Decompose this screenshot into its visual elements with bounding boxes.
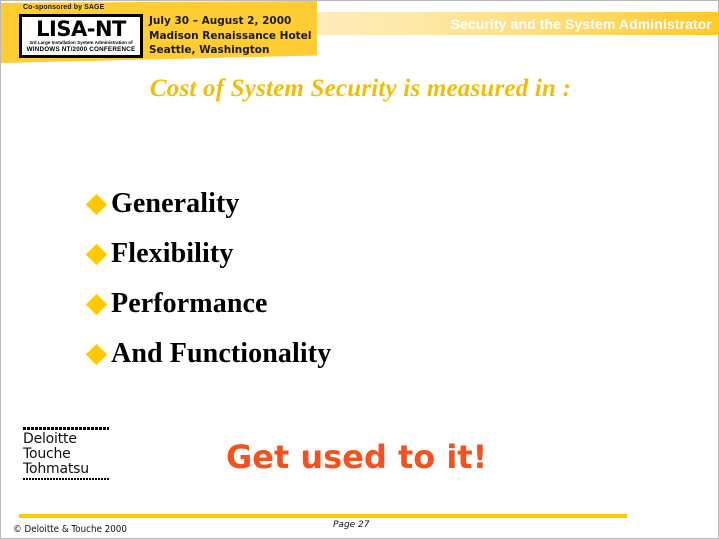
deloitte-logo: Deloitte Touche Tohmatsu xyxy=(23,427,109,480)
logo-rule-bottom-icon xyxy=(23,478,109,480)
diamond-bullet-icon xyxy=(86,193,107,214)
cosponsor-label: Co-sponsored by SAGE xyxy=(23,4,104,11)
deloitte-logo-line3: Tohmatsu xyxy=(23,462,109,477)
list-item: Flexibility xyxy=(89,229,649,279)
bullet-list: Generality Flexibility Performance And F… xyxy=(89,179,649,379)
list-item: Performance xyxy=(89,279,649,329)
footer-page-number: Page 27 xyxy=(333,520,370,530)
diamond-bullet-icon xyxy=(86,293,107,314)
list-item: And Functionality xyxy=(89,329,649,379)
list-item-label: And Functionality xyxy=(111,338,331,370)
page-title: Cost of System Security is measured in : xyxy=(1,75,719,103)
conference-details: July 30 – August 2, 2000 Madison Renaiss… xyxy=(149,14,311,58)
lisa-nt-subtitle-line2: WINDOWS NT/2000 CONFERENCE xyxy=(27,46,136,54)
lisa-nt-wordmark: LISA-NT xyxy=(36,18,126,40)
list-item-label: Generality xyxy=(111,188,240,220)
diamond-bullet-icon xyxy=(86,243,107,264)
lisa-nt-logo: LISA-NT 3rd Large Installation System Ad… xyxy=(19,14,143,58)
list-item: Generality xyxy=(89,179,649,229)
conference-city: Seattle, Washington xyxy=(149,43,311,58)
header-title: Security and the System Administrator xyxy=(451,16,712,32)
callout-text: Get used to it! xyxy=(226,438,487,476)
logo-rule-top-icon xyxy=(23,427,109,430)
footer-divider xyxy=(19,514,627,518)
lisa-nt-subtitle-line1: 3rd Large Installation System Administra… xyxy=(29,40,132,46)
conference-venue: Madison Renaissance Hotel xyxy=(149,29,311,44)
footer-copyright: © Deloitte & Touche 2000 xyxy=(13,524,127,535)
list-item-label: Performance xyxy=(111,288,268,320)
deloitte-logo-line2: Touche xyxy=(23,447,109,462)
slide-canvas: Co-sponsored by SAGE LISA-NT 3rd Large I… xyxy=(1,1,718,538)
deloitte-logo-line1: Deloitte xyxy=(23,432,109,447)
diamond-bullet-icon xyxy=(86,343,107,364)
conference-dates: July 30 – August 2, 2000 xyxy=(149,14,311,29)
list-item-label: Flexibility xyxy=(111,238,233,270)
header-bar: Security and the System Administrator xyxy=(317,12,719,35)
